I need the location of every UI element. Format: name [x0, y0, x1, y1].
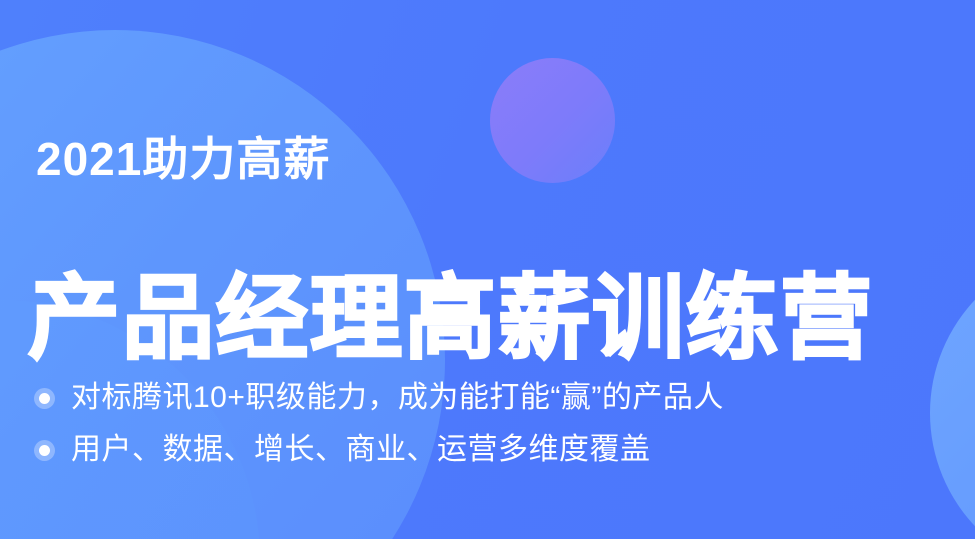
banner-content: 2021助力高薪 产品经理高薪训练营 对标腾讯10+职级能力，成为能打能“赢”的… — [0, 0, 975, 539]
feature-item: 用户、数据、增长、商业、运营多维度覆盖 — [34, 424, 724, 476]
feature-text: 用户、数据、增长、商业、运营多维度覆盖 — [71, 435, 651, 465]
promo-banner: 2021助力高薪 产品经理高薪训练营 对标腾讯10+职级能力，成为能打能“赢”的… — [0, 0, 975, 539]
feature-item: 对标腾讯10+职级能力，成为能打能“赢”的产品人 — [34, 372, 724, 424]
feature-text: 对标腾讯10+职级能力，成为能打能“赢”的产品人 — [71, 383, 724, 413]
banner-headline: 产品经理高薪训练营 — [28, 270, 874, 369]
bullet-dot-icon — [34, 388, 55, 409]
banner-kicker: 2021助力高薪 — [36, 136, 330, 182]
feature-list: 对标腾讯10+职级能力，成为能打能“赢”的产品人 用户、数据、增长、商业、运营多… — [34, 372, 724, 476]
bullet-dot-icon — [34, 440, 55, 461]
